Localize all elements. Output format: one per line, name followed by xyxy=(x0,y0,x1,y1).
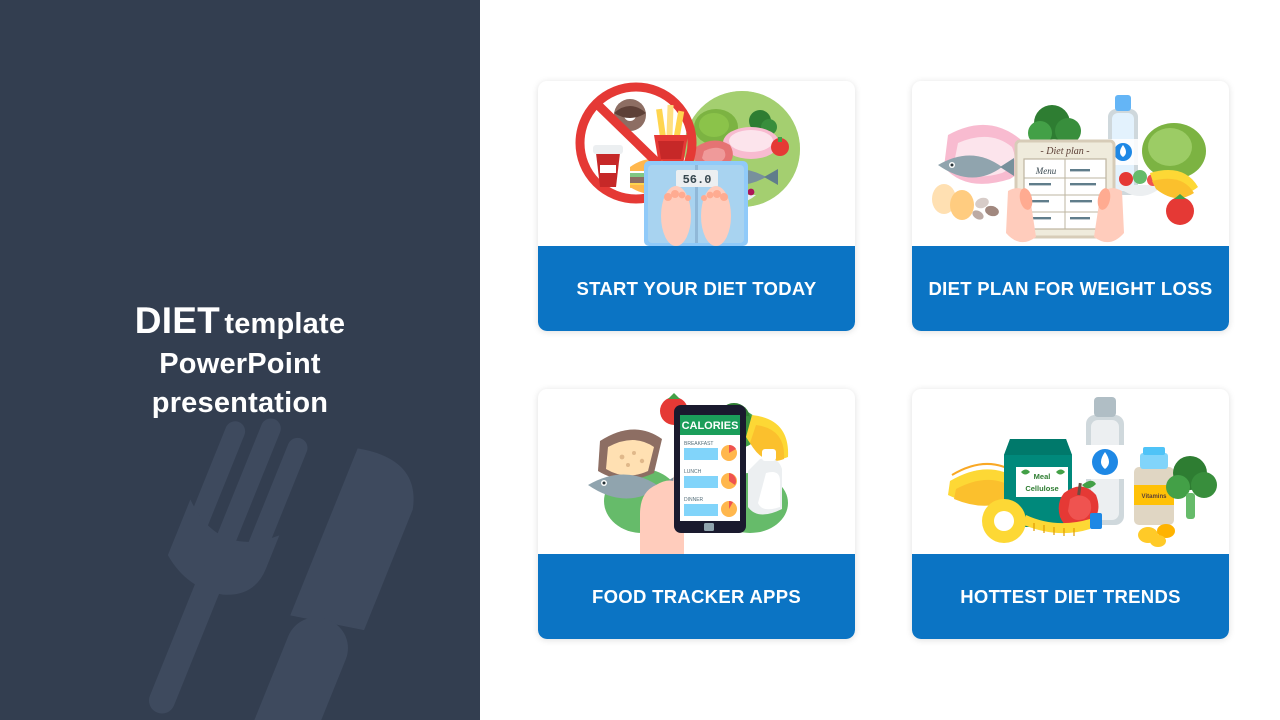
svg-text:DINNER: DINNER xyxy=(684,497,704,503)
sidebar: DIET template PowerPoint presentation xyxy=(0,0,480,720)
card-2-band[interactable]: DIET PLAN FOR WEIGHT LOSS xyxy=(912,246,1229,331)
card-1-band[interactable]: START YOUR DIET TODAY xyxy=(538,246,855,331)
svg-text:LUNCH: LUNCH xyxy=(684,469,702,475)
diet-trends-products-illustration: Meal Cellulose Vitamins xyxy=(912,389,1229,554)
title-line-3: presentation xyxy=(0,384,480,423)
svg-text:Vitamins: Vitamins xyxy=(1142,494,1168,500)
card-1-label: START YOUR DIET TODAY xyxy=(577,278,817,300)
svg-text:CALORIES: CALORIES xyxy=(682,420,739,432)
card-hottest-diet-trends[interactable]: Meal Cellulose Vitamins xyxy=(912,389,1229,639)
card-4-band[interactable]: HOTTEST DIET TRENDS xyxy=(912,554,1229,639)
diet-scale-illustration: 56.0 xyxy=(538,81,855,246)
card-4-label: HOTTEST DIET TRENDS xyxy=(960,586,1181,608)
svg-text:BREAKFAST: BREAKFAST xyxy=(684,441,713,447)
page-title: DIET template PowerPoint presentation xyxy=(0,296,480,422)
card-start-your-diet-today[interactable]: 56.0 START YOUR DIET TODAY xyxy=(538,81,855,331)
diet-plan-clipboard-illustration: - Diet plan - Menu xyxy=(912,81,1229,246)
slide: DIET template PowerPoint presentation xyxy=(0,0,1280,720)
card-2-label: DIET PLAN FOR WEIGHT LOSS xyxy=(929,278,1213,300)
svg-text:- Diet plan -: - Diet plan - xyxy=(1040,146,1089,157)
svg-text:Menu: Menu xyxy=(1035,166,1057,176)
svg-text:Meal: Meal xyxy=(1034,472,1051,481)
title-line-2: PowerPoint xyxy=(0,345,480,384)
card-3-label: FOOD TRACKER APPS xyxy=(592,586,801,608)
svg-text:56.0: 56.0 xyxy=(683,173,712,187)
card-3-band[interactable]: FOOD TRACKER APPS xyxy=(538,554,855,639)
svg-text:Cellulose: Cellulose xyxy=(1025,484,1058,493)
title-template: template xyxy=(224,308,345,340)
card-food-tracker-apps[interactable]: CALORIES BREAKFAST LUNCH DINNER xyxy=(538,389,855,639)
card-diet-plan-for-weight-loss[interactable]: - Diet plan - Menu DIET PL xyxy=(912,81,1229,331)
calorie-tracker-phone-illustration: CALORIES BREAKFAST LUNCH DINNER xyxy=(538,389,855,554)
title-line-1: DIET template xyxy=(0,296,480,345)
title-diet: DIET xyxy=(135,300,220,341)
